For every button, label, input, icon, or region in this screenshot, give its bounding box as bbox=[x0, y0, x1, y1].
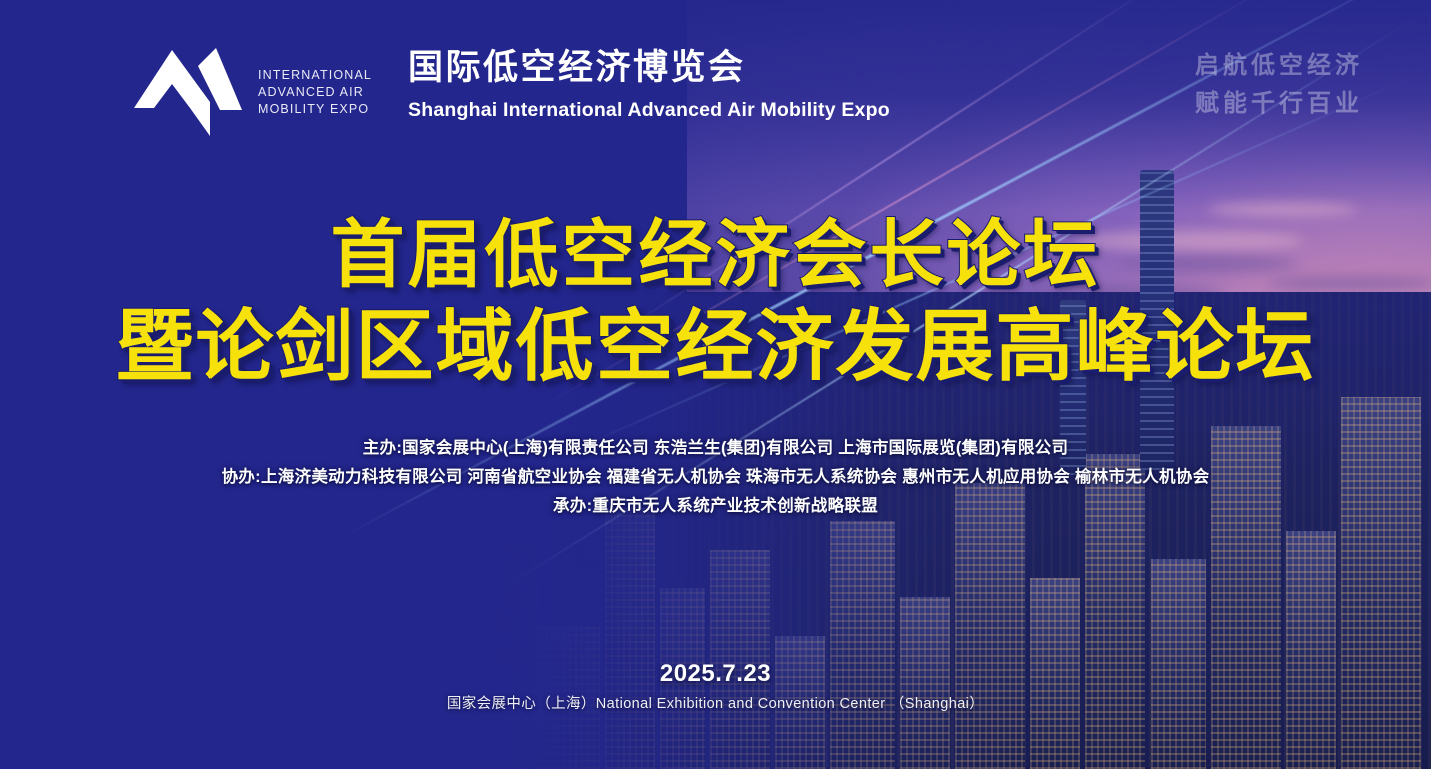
organiser-coorganiser-line: 协办:上海济美动力科技有限公司 河南省航空业协会 福建省无人机协会 珠海市无人系… bbox=[0, 463, 1431, 492]
poster-footer: 2025.7.23 国家会展中心（上海）National Exhibition … bbox=[0, 658, 1431, 716]
expo-logo-line-3: MOBILITY EXPO bbox=[258, 101, 372, 118]
event-venue: 国家会展中心（上海）National Exhibition and Conven… bbox=[0, 692, 1431, 716]
poster-header: INTERNATIONAL ADVANCED AIR MOBILITY EXPO… bbox=[0, 0, 1431, 175]
expo-logo-line-1: INTERNATIONAL bbox=[258, 67, 372, 84]
expo-logo-text: INTERNATIONAL ADVANCED AIR MOBILITY EXPO bbox=[258, 67, 372, 118]
expo-title-cn: 国际低空经济博览会 bbox=[408, 46, 890, 90]
header-slogan: 启航低空经济 赋能千行百业 bbox=[1195, 47, 1363, 123]
poster-canvas: INTERNATIONAL ADVANCED AIR MOBILITY EXPO… bbox=[0, 0, 1431, 769]
organiser-undertaker-line: 承办:重庆市无人系统产业技术创新战略联盟 bbox=[0, 492, 1431, 521]
forum-title-line-2: 暨论剑区域低空经济发展高峰论坛 bbox=[0, 300, 1431, 392]
header-slogan-line-2: 赋能千行百业 bbox=[1195, 85, 1363, 123]
header-slogan-line-1: 启航低空经济 bbox=[1195, 47, 1363, 85]
expo-logo-line-2: ADVANCED AIR bbox=[258, 84, 372, 101]
organiser-host-line: 主办:国家会展中心(上海)有限责任公司 东浩兰生(集团)有限公司 上海市国际展览… bbox=[0, 434, 1431, 463]
aam-double-chevron-logo-icon bbox=[132, 48, 244, 136]
forum-title-block: 首届低空经济会长论坛 暨论剑区域低空经济发展高峰论坛 bbox=[0, 212, 1431, 392]
forum-title-line-1: 首届低空经济会长论坛 bbox=[0, 212, 1431, 298]
expo-title-en: Shanghai International Advanced Air Mobi… bbox=[408, 96, 890, 124]
expo-logo: INTERNATIONAL ADVANCED AIR MOBILITY EXPO bbox=[132, 48, 372, 136]
event-date: 2025.7.23 bbox=[0, 658, 1431, 690]
organiser-block: 主办:国家会展中心(上海)有限责任公司 东浩兰生(集团)有限公司 上海市国际展览… bbox=[0, 434, 1431, 521]
expo-title-block: 国际低空经济博览会 Shanghai International Advance… bbox=[408, 46, 890, 124]
